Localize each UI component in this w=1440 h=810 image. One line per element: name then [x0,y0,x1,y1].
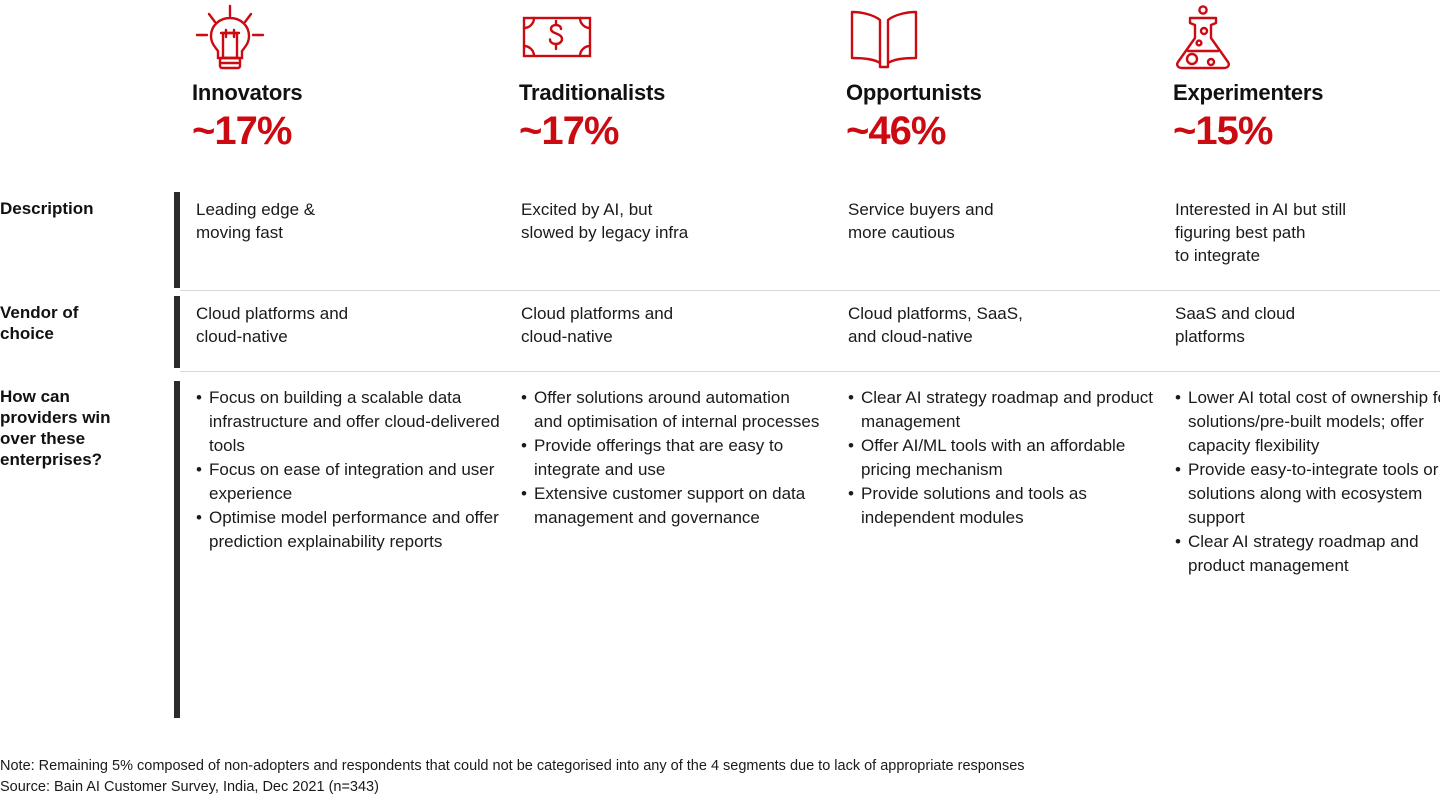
bullet-list: Clear AI strategy roadmap and product ma… [848,386,1168,530]
segment-header-traditionalists: Traditionalists ~17% [519,0,839,154]
segment-title: Experimenters [1173,80,1440,106]
cell-win-innovators: Focus on building a scalable data infras… [196,386,516,554]
segment-header-opportunists: Opportunists ~46% [846,0,1166,154]
list-item: Clear AI strategy roadmap and product ma… [848,386,1168,434]
row-divider-2 [180,371,1440,372]
row-label-description: Description [0,198,172,219]
segment-title: Innovators [192,80,512,106]
list-item: Focus on building a scalable data infras… [196,386,516,458]
lightbulb-icon [192,0,512,74]
segment-percent: ~17% [519,108,839,154]
cell-description-experimenters: Interested in AI but stillfiguring best … [1175,198,1440,267]
list-item: Focus on ease of integration and user ex… [196,458,516,506]
cell-description-traditionalists: Excited by AI, butslowed by legacy infra [521,198,841,244]
flask-icon [1173,0,1440,74]
list-item: Offer solutions around automation and op… [521,386,821,434]
cell-win-experimenters: Lower AI total cost of ownership for sol… [1175,386,1440,578]
list-item: Clear AI strategy roadmap and product ma… [1175,530,1440,578]
list-item: Provide solutions and tools as independe… [848,482,1168,530]
segment-header-experimenters: Experimenters ~15% [1173,0,1440,154]
list-item: Optimise model performance and offer pre… [196,506,516,554]
segment-title: Traditionalists [519,80,839,106]
bullet-list: Offer solutions around automation and op… [521,386,821,530]
segment-percent: ~46% [846,108,1166,154]
list-item: Provide easy-to-integrate tools or solut… [1175,458,1440,530]
list-item: Extensive customer support on data manag… [521,482,821,530]
cell-vendor-opportunists: Cloud platforms, SaaS,and cloud-native [848,302,1168,348]
list-item: Offer AI/ML tools with an affordable pri… [848,434,1168,482]
cell-win-traditionalists: Offer solutions around automation and op… [521,386,821,530]
segment-header-innovators: Innovators ~17% [192,0,512,154]
row-label-vendor: Vendor ofchoice [0,302,172,344]
list-item: Lower AI total cost of ownership for sol… [1175,386,1440,458]
footnotes: Note: Remaining 5% composed of non-adopt… [0,756,1440,798]
cell-vendor-traditionalists: Cloud platforms andcloud-native [521,302,841,348]
footnote-source: Source: Bain AI Customer Survey, India, … [0,777,1440,798]
segment-header-band: Innovators ~17% Traditionalists ~17 [0,0,1440,188]
list-item: Provide offerings that are easy to integ… [521,434,821,482]
segment-title: Opportunists [846,80,1166,106]
cell-win-opportunists: Clear AI strategy roadmap and product ma… [848,386,1168,530]
segment-percent: ~17% [192,108,512,154]
cell-description-innovators: Leading edge &moving fast [196,198,516,244]
row-divider-1 [180,290,1440,291]
footnote-note: Note: Remaining 5% composed of non-adopt… [0,756,1440,777]
cell-vendor-experimenters: SaaS and cloudplatforms [1175,302,1440,348]
bullet-list: Focus on building a scalable data infras… [196,386,516,554]
row-label-win: How canproviders winover theseenterprise… [0,386,172,470]
row-accent-bar-win [174,381,180,718]
segment-percent: ~15% [1173,108,1440,154]
cell-vendor-innovators: Cloud platforms andcloud-native [196,302,516,348]
open-book-icon [846,0,1166,74]
row-accent-bar-description [174,192,180,288]
row-accent-bar-vendor [174,296,180,368]
cell-description-opportunists: Service buyers andmore cautious [848,198,1168,244]
bullet-list: Lower AI total cost of ownership for sol… [1175,386,1440,578]
banknote-icon [519,0,839,74]
slide-root: Innovators ~17% Traditionalists ~17 [0,0,1440,810]
